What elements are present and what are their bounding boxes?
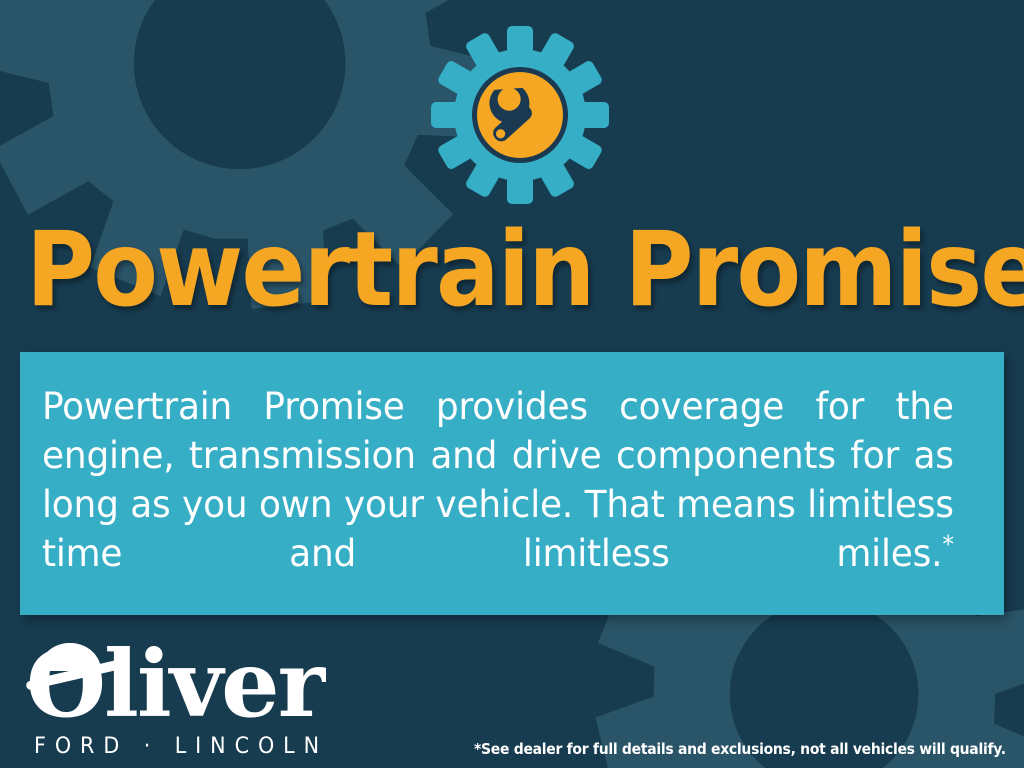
promotional-poster: Powertrain Promise Powertrain Promise pr… bbox=[0, 0, 1024, 768]
oliver-wordmark: Oliver bbox=[26, 638, 326, 730]
disclaimer-text: *See dealer for full details and exclusi… bbox=[474, 740, 1006, 758]
body-copy-text: Powertrain Promise provides coverage for… bbox=[42, 385, 954, 575]
gear-wrench-icon bbox=[428, 24, 612, 206]
body-panel: Powertrain Promise provides coverage for… bbox=[20, 352, 1004, 615]
page-title: Powertrain Promise bbox=[26, 218, 927, 323]
body-copy: Powertrain Promise provides coverage for… bbox=[42, 382, 954, 627]
dealer-brands: FORD · LINCOLN bbox=[34, 734, 328, 759]
footnote-marker: * bbox=[942, 531, 953, 559]
